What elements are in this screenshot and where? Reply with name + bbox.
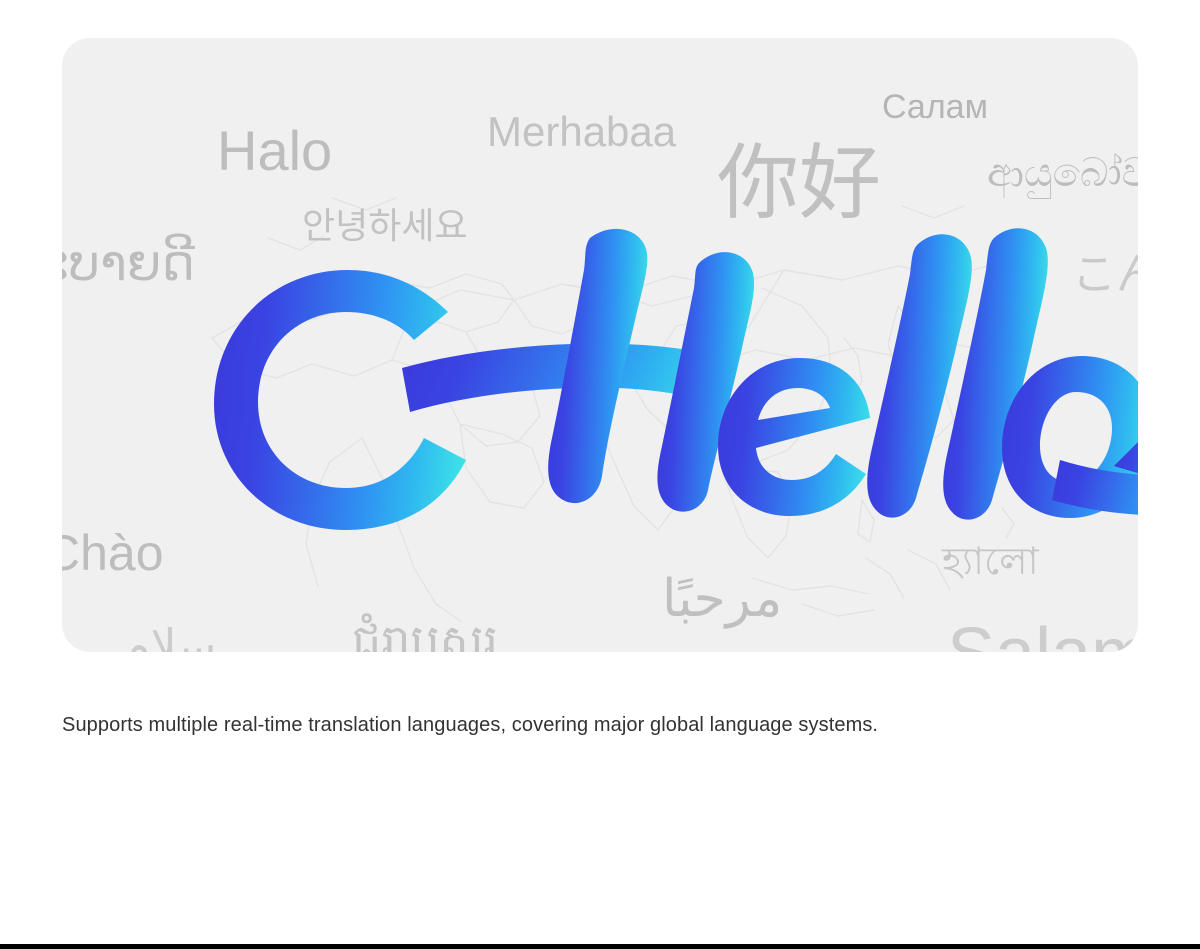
greeting-word: Chào [62,528,164,578]
greeting-word: Merhabaa [487,111,676,153]
bottom-divider-bar [0,944,1200,949]
greeting-word: 你好 [717,143,881,225]
language-showcase-card: HaloMerhabaaСалам你好ආයුබෝවන්안녕하세요ສະບາຍດີこ… [62,38,1138,652]
card-caption: Supports multiple real-time translation … [62,711,1142,739]
greeting-word: ආයුබෝවන් [987,153,1138,193]
greeting-word: こんにちは [1072,253,1138,297]
page-root: HaloMerhabaaСалам你好ආයුබෝවන්안녕하세요ສະບາຍດີこ… [0,0,1200,949]
greeting-word: مرحبًا [662,573,782,625]
greeting-word: سلام [122,623,216,652]
hello-logotype [152,208,1138,498]
greeting-word: ជំរាបសួរ [352,618,498,652]
greeting-word: Салам [882,90,988,124]
greeting-word: Salam [947,618,1138,652]
greeting-word: ສະບາຍດີ [62,238,195,288]
greeting-word: 안녕하세요 [302,208,468,244]
greeting-word: Halo [217,123,332,179]
greeting-word: হ্যালো [942,543,1039,581]
